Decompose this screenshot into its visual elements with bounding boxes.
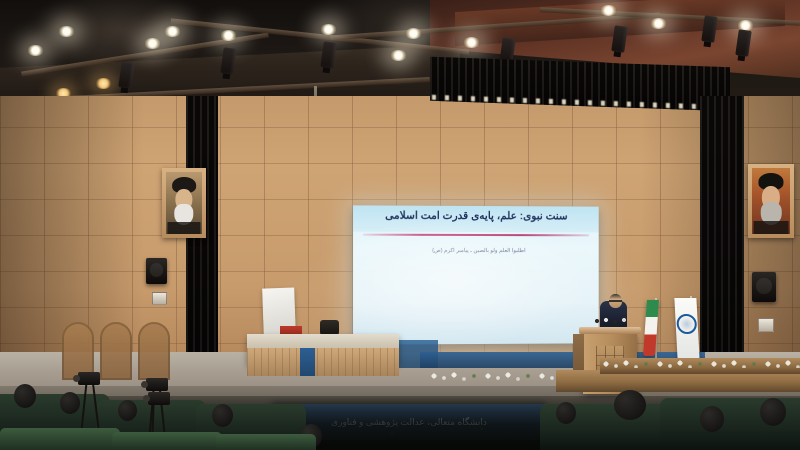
ceiling-spotlight: [58, 26, 75, 37]
audience-person: [60, 392, 80, 414]
ceiling-spotlight: [600, 5, 617, 16]
projection-screen: سنت نبوی: علم، پایه‌ی قدرت امت اسلامی اط…: [353, 205, 599, 344]
audience-person: [614, 390, 646, 420]
portrait-khomeini-image: [166, 172, 202, 234]
audience-person: [700, 406, 724, 432]
ceiling-spotlight: [405, 28, 422, 39]
stage-curtain-left: [186, 96, 218, 396]
slide-title: سنت نبوی: علم، پایه‌ی قدرت امت اسلامی: [353, 209, 599, 222]
wall-mounted-speaker-left: [146, 258, 167, 284]
slide-quote-text: اطلبوا العلم ولو بالصین ـ پیامبر اکرم (ص…: [394, 248, 564, 254]
auditorium-scene: سنت نبوی: علم، پایه‌ی قدرت امت اسلامی اط…: [0, 0, 800, 450]
portrait-khomeini: [162, 168, 206, 238]
wall-outlet-plate-left: [152, 292, 167, 305]
portrait-khamenei-image: [752, 168, 790, 234]
ceiling-spotlight: [650, 18, 667, 29]
wall-mounted-speaker-right: [752, 272, 776, 302]
ceiling-spotlight: [144, 38, 161, 49]
portrait-khamenei: [748, 164, 794, 238]
ceiling-spotlight: [27, 45, 44, 56]
wall-arch-panel: [138, 322, 170, 380]
audience-seat-row: [0, 428, 120, 450]
audience-person: [118, 400, 137, 421]
robe: [167, 222, 200, 234]
glasses-icon: [609, 300, 622, 302]
audience-person: [212, 404, 233, 427]
ceiling-spotlight: [463, 37, 480, 48]
stage-desk-blue-panel: [300, 348, 315, 376]
audience-seat-row: [112, 432, 222, 450]
ceiling-spotlight: [320, 24, 337, 35]
university-flag: [674, 298, 699, 360]
robe: [754, 221, 789, 234]
video-camera: [78, 372, 100, 385]
wall-arch-panel: [100, 322, 132, 380]
seat-bank-garland: [600, 356, 800, 368]
ceiling-spotlight: [164, 26, 181, 37]
video-camera: [148, 392, 170, 405]
stage-desk-front: [247, 348, 399, 376]
audience-person: [760, 398, 786, 426]
ceiling-spotlight: [390, 50, 407, 61]
wall-outlet-plate-right: [758, 318, 774, 332]
ceiling-spotlight: [220, 30, 237, 41]
audience-seat-row: [216, 434, 316, 450]
podium-top-surface: [579, 327, 641, 334]
slide-divider-rule: [363, 234, 589, 237]
audience-person: [556, 402, 576, 424]
audience-person: [14, 384, 36, 408]
ceiling-spotlight-warm: [95, 78, 112, 89]
video-camera: [146, 378, 168, 391]
